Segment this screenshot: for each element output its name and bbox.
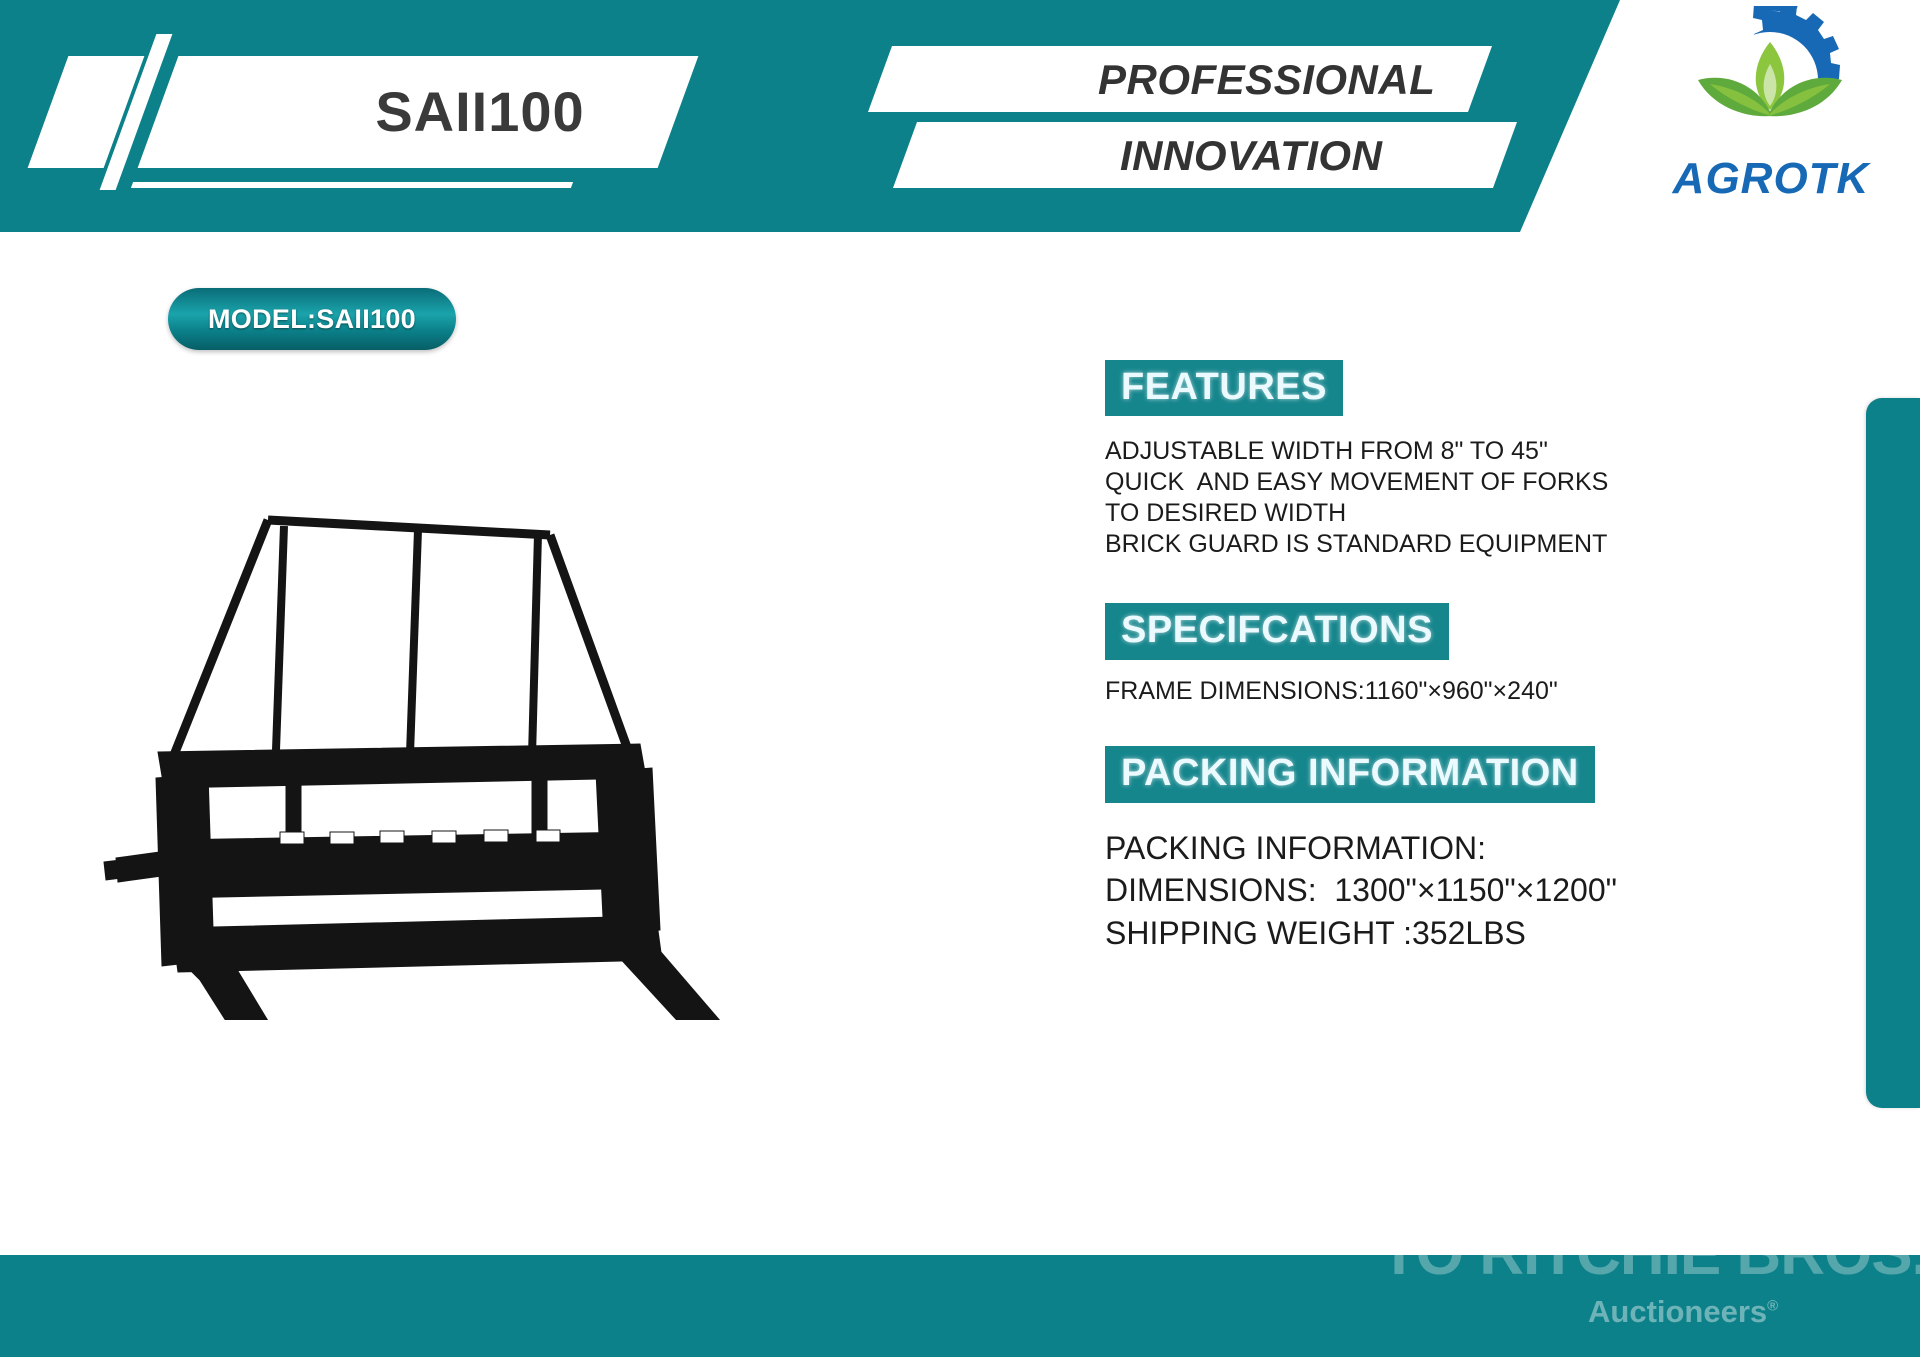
footer-bar xyxy=(0,1255,1920,1357)
product-photo xyxy=(80,460,960,1020)
specifications-text: FRAME DIMENSIONS:1160"×960"×240" xyxy=(1105,676,1785,707)
specification-panel: FEATURES ADJUSTABLE WIDTH FROM 8" TO 45"… xyxy=(1105,360,1785,954)
header-accent-underline xyxy=(131,182,573,188)
gear-leaf-logo-icon xyxy=(1680,6,1860,158)
packing-text: PACKING INFORMATION: DIMENSIONS: 1300"×1… xyxy=(1105,827,1785,955)
brand-logo: AGROTK xyxy=(1640,6,1902,224)
specifications-block: SPECIFCATIONS FRAME DIMENSIONS:1160"×960… xyxy=(1105,603,1785,706)
tagline-professional: PROFESSIONAL xyxy=(1098,56,1435,104)
brand-name: AGROTK xyxy=(1640,154,1902,204)
features-text: ADJUSTABLE WIDTH FROM 8" TO 45" QUICK AN… xyxy=(1105,436,1785,559)
features-block: FEATURES ADJUSTABLE WIDTH FROM 8" TO 45"… xyxy=(1105,360,1785,559)
model-badge-label: MODEL:SAII100 xyxy=(168,288,456,350)
packing-heading: PACKING INFORMATION xyxy=(1105,746,1595,802)
model-badge: MODEL:SAII100 xyxy=(168,288,456,350)
product-spec-sheet: SAII100 PROFESSIONAL INNOVATION xyxy=(0,0,1920,1357)
packing-block: PACKING INFORMATION PACKING INFORMATION:… xyxy=(1105,746,1785,954)
specifications-heading: SPECIFCATIONS xyxy=(1105,603,1449,659)
page-header: SAII100 PROFESSIONAL INNOVATION xyxy=(0,0,1920,232)
page-title: SAII100 xyxy=(270,66,690,158)
features-heading: FEATURES xyxy=(1105,360,1343,416)
right-edge-accent-bar xyxy=(1866,398,1920,1108)
tagline-innovation: INNOVATION xyxy=(1120,132,1382,180)
